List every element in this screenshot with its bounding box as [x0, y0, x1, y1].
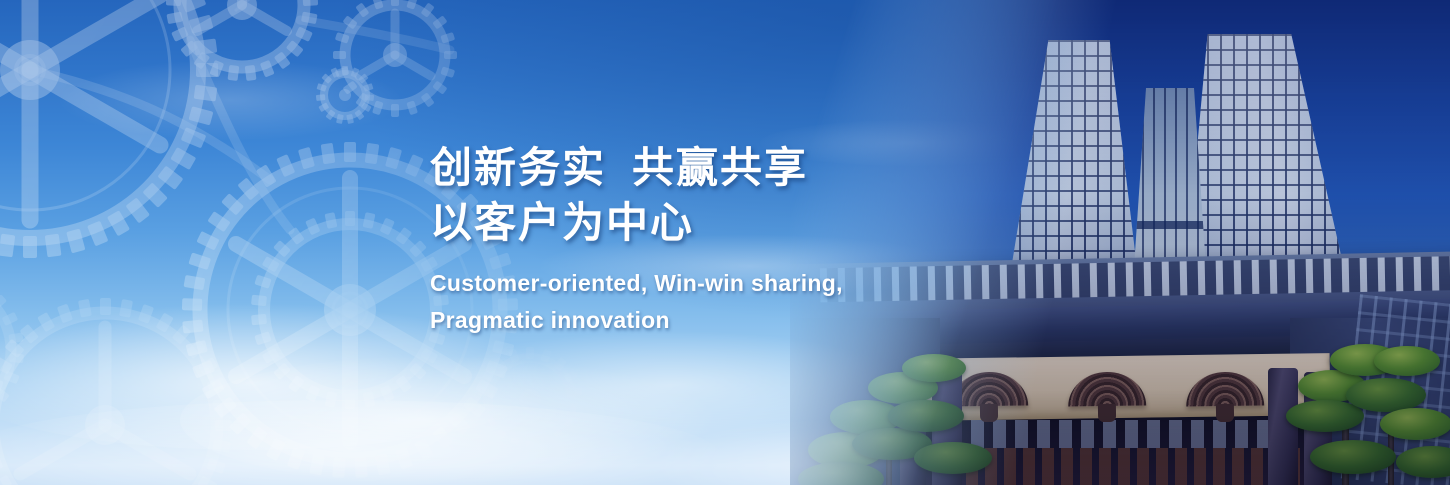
- subtitle-english-line-2: Pragmatic innovation: [430, 302, 843, 339]
- banner-copy: 创新务实共赢共享 以客户为中心 Customer-oriented, Win-w…: [430, 140, 843, 339]
- headline-chinese-line-2: 以客户为中心: [430, 195, 843, 250]
- headline-chinese-line-1: 创新务实共赢共享: [430, 140, 843, 195]
- slogan-part-2: 共赢共享: [632, 144, 808, 191]
- photo-edge-blend: [790, 0, 1450, 485]
- slogan-part-1: 创新务实: [430, 144, 606, 191]
- company-hero-banner: 创新务实共赢共享 以客户为中心 Customer-oriented, Win-w…: [0, 0, 1450, 485]
- office-building-photo: [790, 0, 1450, 485]
- subtitle-english-line-1: Customer-oriented, Win-win sharing,: [430, 265, 843, 302]
